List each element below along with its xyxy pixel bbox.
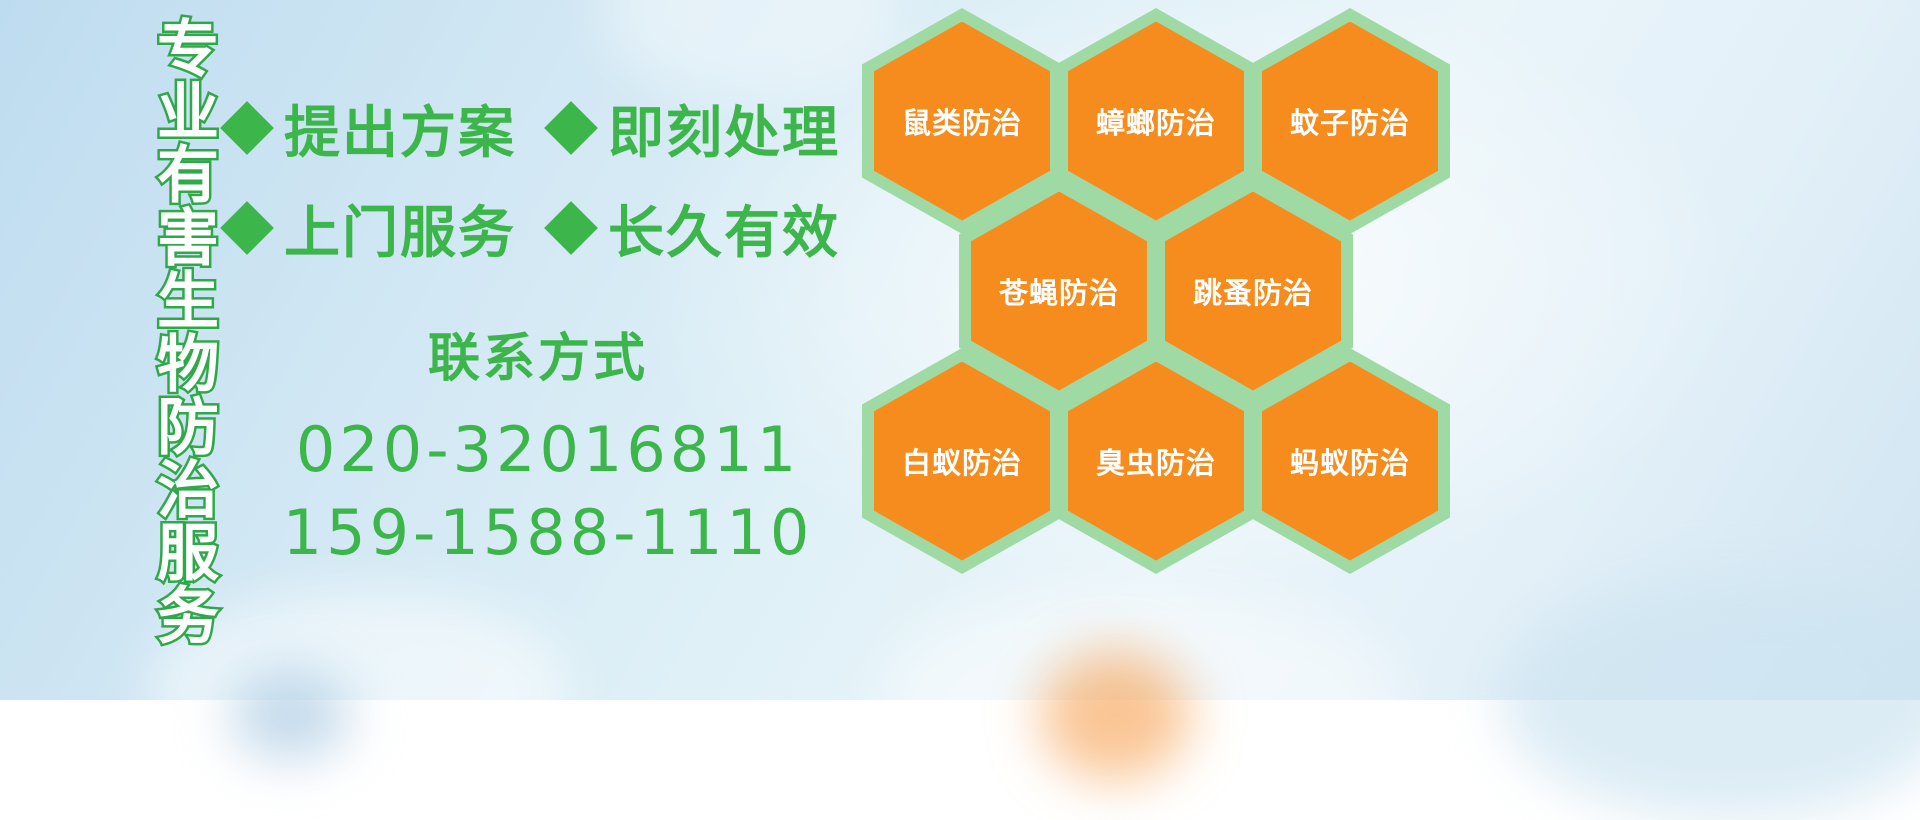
phone-landline[interactable]: 020-32016811	[228, 413, 868, 486]
vertical-headline: 专业有害生物防治服务	[108, 16, 214, 646]
feature-row: 上门服务 长久有效	[228, 178, 868, 278]
hex-inner: 白蚁防治	[874, 362, 1050, 561]
hex-inner: 臭虫防治	[1068, 362, 1244, 561]
hex-label: 白蚁防治	[902, 440, 1022, 482]
promo-banner: 专业有害生物防治服务 提出方案 即刻处理 上门服务 长久有效 联系方式 0	[0, 0, 1920, 700]
hex-inner: 蟑螂防治	[1068, 22, 1244, 221]
diamond-bullet-icon	[220, 201, 274, 255]
feature-item-onsite-service: 上门服务	[228, 188, 516, 269]
feature-item-long-lasting: 长久有效	[552, 188, 840, 269]
feature-item-propose-plan: 提出方案	[228, 88, 516, 169]
contact-block: 联系方式 020-32016811 159-1588-1110	[228, 316, 868, 569]
hex-label: 蚊子防治	[1290, 100, 1410, 142]
hex-label: 跳蚤防治	[1193, 270, 1313, 312]
feature-label: 长久有效	[608, 188, 840, 269]
hex-label: 苍蝇防治	[999, 270, 1119, 312]
feature-label: 提出方案	[284, 88, 516, 169]
hex-inner: 蚂蚁防治	[1262, 362, 1438, 561]
feature-label: 即刻处理	[608, 88, 840, 169]
diamond-bullet-icon	[544, 201, 598, 255]
feature-row: 提出方案 即刻处理	[228, 78, 868, 178]
hex-label: 蚂蚁防治	[1290, 440, 1410, 482]
hex-inner: 鼠类防治	[874, 22, 1050, 221]
feature-list: 提出方案 即刻处理 上门服务 长久有效	[228, 78, 868, 278]
contact-heading: 联系方式	[208, 316, 868, 391]
hex-inner: 苍蝇防治	[971, 192, 1147, 391]
feature-label: 上门服务	[284, 188, 516, 269]
hex-label: 鼠类防治	[902, 100, 1022, 142]
background-blur-blob	[1500, 580, 1920, 820]
hex-label: 蟑螂防治	[1096, 100, 1216, 142]
diamond-bullet-icon	[544, 101, 598, 155]
hex-inner: 蚊子防治	[1262, 22, 1438, 221]
diamond-bullet-icon	[220, 101, 274, 155]
feature-item-immediate-handling: 即刻处理	[552, 88, 840, 169]
phone-mobile[interactable]: 159-1588-1110	[228, 496, 868, 569]
service-hexagon-grid: 鼠类防治 蟑螂防治 蚊子防治 苍蝇防治 跳蚤防治 白蚁防治	[848, 0, 1468, 700]
hex-inner: 跳蚤防治	[1165, 192, 1341, 391]
background-blur-blob	[230, 670, 350, 760]
hex-label: 臭虫防治	[1096, 440, 1216, 482]
